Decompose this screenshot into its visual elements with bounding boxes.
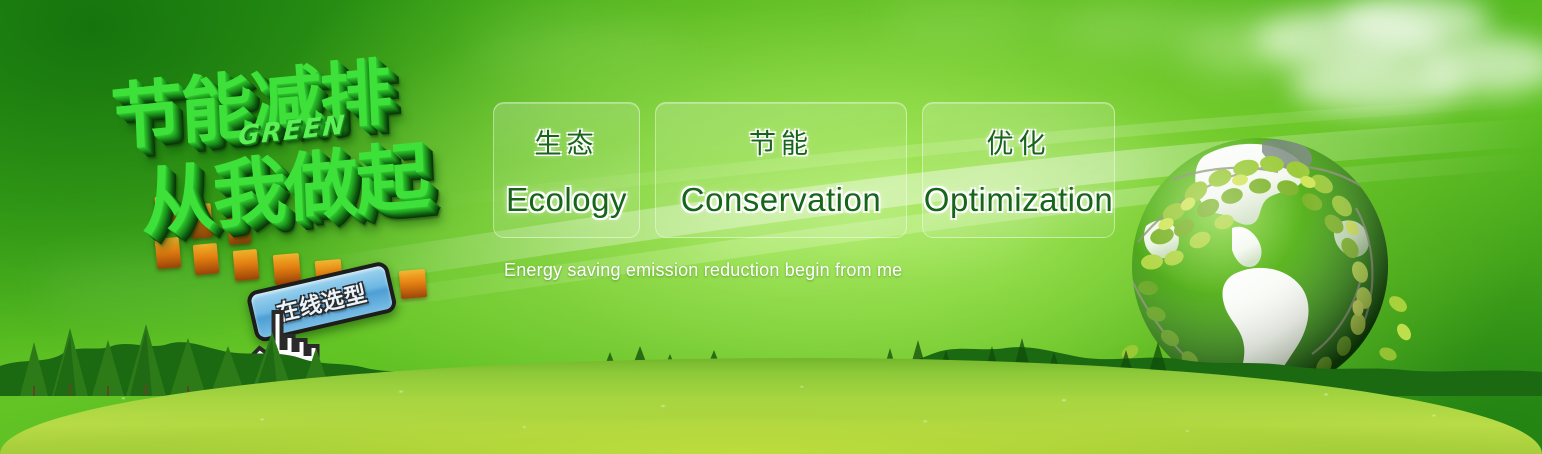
cloud-icon xyxy=(1340,0,1490,46)
cloud-icon xyxy=(1050,6,1200,50)
banner-tagline: Energy saving emission reduction begin f… xyxy=(504,260,902,281)
feature-card-list: 生态 Ecology 节能 Conservation 优化 Optimizati… xyxy=(493,102,1115,238)
feature-card-cn-label: 优化 xyxy=(987,122,1051,161)
feature-card-cn-label: 生态 xyxy=(535,122,599,161)
headline-3d-text: 节能减排 GREEN 从我做起 xyxy=(98,38,498,278)
grass-field-icon xyxy=(0,358,1542,454)
eco-hero-banner: 节能减排 GREEN 从我做起 在线选型 生态 Ecology 节能 Conse… xyxy=(0,0,1542,454)
feature-card-optimization[interactable]: 优化 Optimization xyxy=(922,102,1115,238)
feature-card-en-label: Optimization xyxy=(924,181,1113,219)
cloud-icon xyxy=(880,0,1050,40)
cloud-icon xyxy=(1290,56,1465,112)
feature-card-en-label: Conservation xyxy=(681,181,881,219)
cloud-icon xyxy=(470,16,680,76)
feature-card-conservation[interactable]: 节能 Conservation xyxy=(655,102,907,238)
cloud-icon xyxy=(1420,36,1542,94)
cloud-icon xyxy=(1180,22,1310,70)
ember-bar-decoration xyxy=(233,249,260,281)
feature-card-ecology[interactable]: 生态 Ecology xyxy=(493,102,640,238)
ember-bar-decoration xyxy=(193,243,220,275)
feature-card-cn-label: 节能 xyxy=(749,122,813,161)
feature-card-en-label: Ecology xyxy=(506,181,627,219)
cloud-icon xyxy=(1255,8,1445,70)
